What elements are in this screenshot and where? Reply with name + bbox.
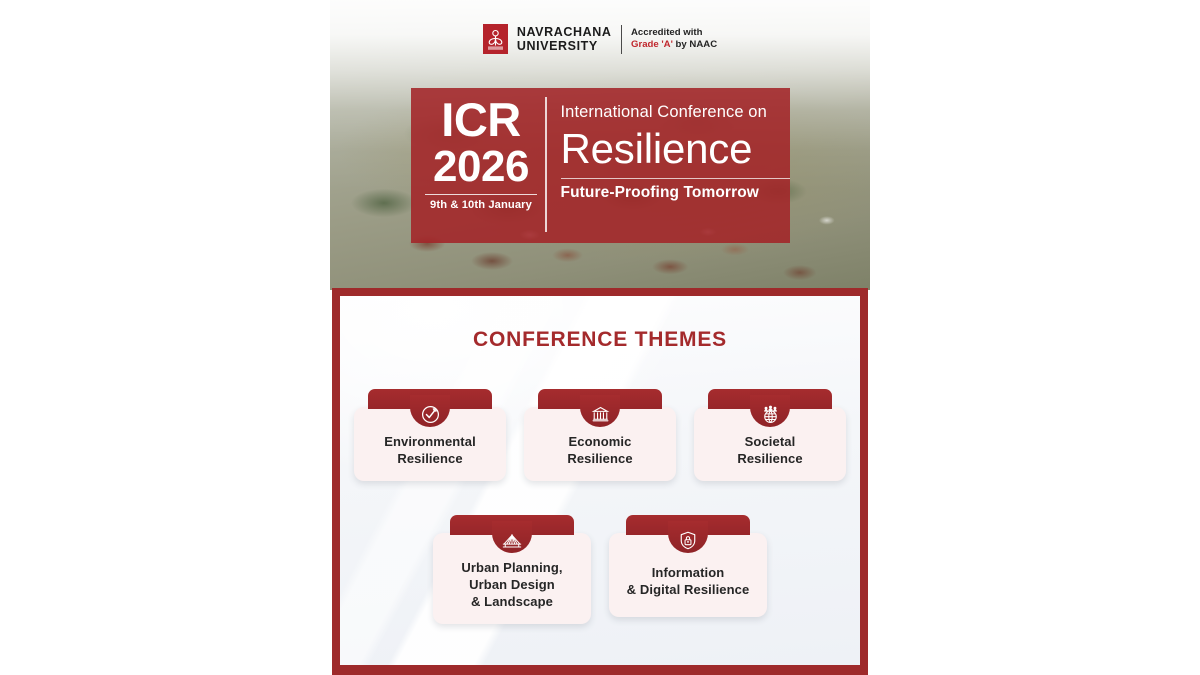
conference-dates: 9th & 10th January [430,195,532,215]
university-name-line1: NAVRACHANA [517,25,612,39]
tagline-divider [561,178,791,179]
conference-prefix: International Conference on [561,101,791,123]
university-name-line2: UNIVERSITY [517,40,612,53]
panel-content: CONFERENCE THEMES [340,296,860,665]
screenshot-canvas: NAVRACHANA UNIVERSITY Accredited with Gr… [0,0,1200,675]
theme-label: Economic Resilience [567,433,632,467]
accreditation-text: Accredited with Grade 'A' by NAAC [631,27,717,51]
accreditation-line1: Accredited with [631,27,717,39]
navrachana-university-logo-icon [483,24,508,54]
conference-poster: NAVRACHANA UNIVERSITY Accredited with Gr… [330,0,870,675]
bank-building-icon [591,405,610,424]
globe-people-icon [761,405,780,424]
banner-left-column: ICR 2026 9th & 10th January [411,95,545,234]
university-logo-bar: NAVRACHANA UNIVERSITY Accredited with Gr… [330,24,870,54]
banner-right-column: International Conference on Resilience F… [547,95,791,234]
theme-card-economic[interactable]: Economic Resilience [524,389,676,481]
theme-card-urban-planning[interactable]: Urban Planning, Urban Design & Landscape [433,515,591,624]
theme-label: Societal Resilience [737,433,802,467]
theme-label: Urban Planning, Urban Design & Landscape [461,559,562,610]
accreditation-grade: Grade 'A' [631,39,673,50]
theme-card-environmental[interactable]: Environmental Resilience [354,389,506,481]
shield-lock-icon [679,531,697,550]
theme-card-societal[interactable]: Societal Resilience [694,389,846,481]
conference-themes-panel: CONFERENCE THEMES [332,288,868,675]
bridge-icon [502,532,522,550]
themes-row-1: Environmental Resilience [340,389,860,481]
theme-label: Environmental Resilience [384,433,476,467]
conference-themes-title: CONFERENCE THEMES [340,328,860,352]
accreditation-suffix: by NAAC [673,39,717,50]
conference-year: 2026 [433,142,529,192]
theme-label: Information & Digital Resilience [627,564,750,598]
theme-card-information-digital[interactable]: Information & Digital Resilience [609,515,767,624]
conference-name: Resilience [561,124,791,174]
logo-divider [621,25,623,54]
conference-tagline: Future-Proofing Tomorrow [561,182,791,204]
conference-title-banner: ICR 2026 9th & 10th January Internationa… [411,88,790,243]
accreditation-line2: Grade 'A' by NAAC [631,39,717,51]
check-circle-leaf-icon [421,405,440,424]
conference-acronym: ICR [441,97,520,142]
themes-row-2: Urban Planning, Urban Design & Landscape [340,515,860,624]
university-name: NAVRACHANA UNIVERSITY [517,26,612,53]
